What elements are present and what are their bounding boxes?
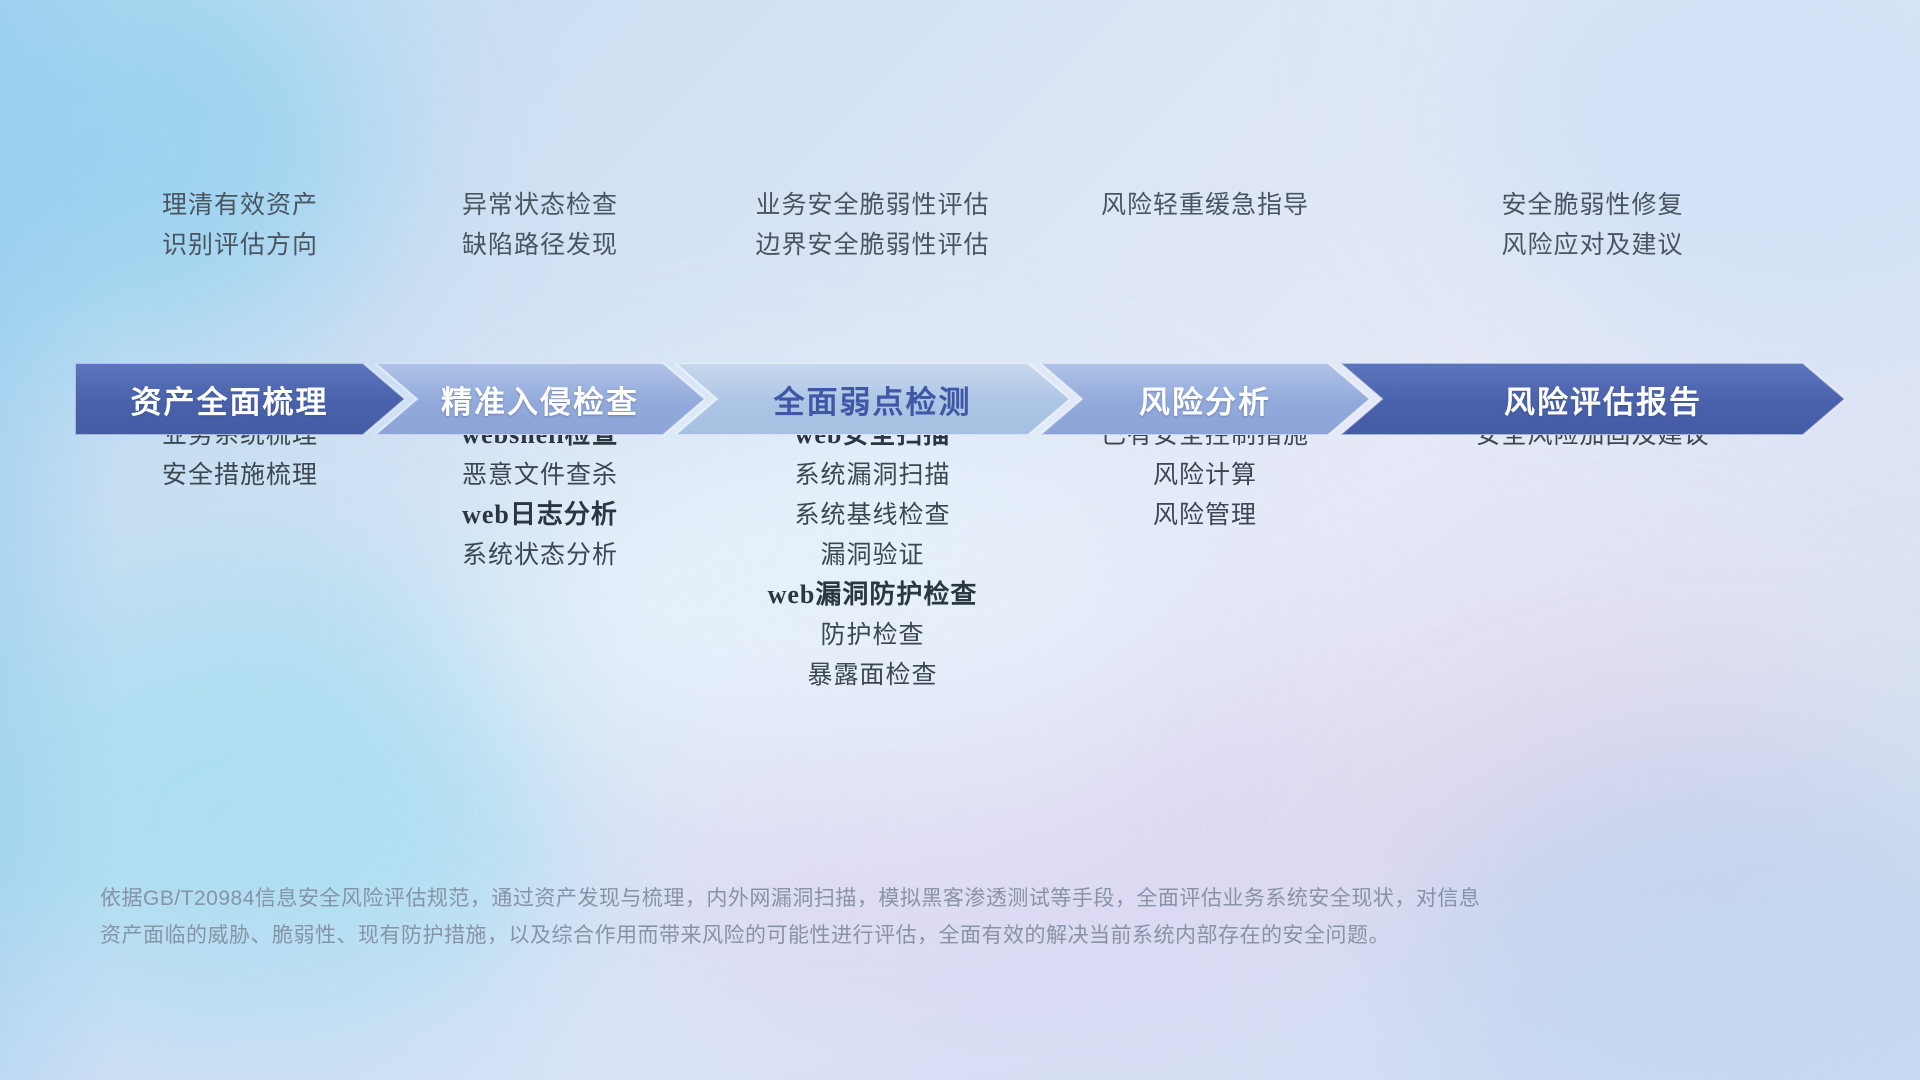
stage-title-1: 资产全面梳理 xyxy=(131,377,329,422)
stage-detail-list-2: webshell检查恶意文件查杀web日志分析系统状态分析 xyxy=(375,415,705,575)
stage-top-label: 识别评估方向 xyxy=(75,225,405,265)
stage-top-labels-row: 理清有效资产识别评估方向异常状态检查缺陷路径发现业务安全脆弱性评估边界安全脆弱性… xyxy=(0,185,1920,285)
stage-top-labels-1: 理清有效资产识别评估方向 xyxy=(75,185,405,265)
stage-chevron-3[interactable]: 全面弱点检测 xyxy=(675,363,1070,435)
process-diagram: 理清有效资产识别评估方向异常状态检查缺陷路径发现业务安全脆弱性评估边界安全脆弱性… xyxy=(0,0,1920,1080)
footer-line-2: 资产面临的威胁、脆弱性、现有防护措施，以及综合作用而带来风险的可能性进行评估，全… xyxy=(100,917,1760,954)
stage-title-3: 全面弱点检测 xyxy=(774,377,972,422)
stage-detail-item[interactable]: 漏洞验证 xyxy=(675,535,1070,575)
stage-top-label: 风险应对及建议 xyxy=(1340,225,1845,265)
stage-top-label: 理清有效资产 xyxy=(75,185,405,225)
footer-description: 依据GB/T20984信息安全风险评估规范，通过资产发现与梳理，内外网漏洞扫描，… xyxy=(100,880,1760,954)
stage-title-2: 精准入侵检查 xyxy=(441,377,639,422)
stage-top-labels-5: 安全脆弱性修复风险应对及建议 xyxy=(1340,185,1845,265)
stage-chevron-5[interactable]: 风险评估报告 xyxy=(1340,363,1845,435)
stage-detail-item[interactable]: 安全措施梳理 xyxy=(75,455,405,495)
stage-detail-item[interactable]: 系统漏洞扫描 xyxy=(675,455,1070,495)
stage-detail-item[interactable]: 系统基线检查 xyxy=(675,495,1070,535)
stage-top-label: 缺陷路径发现 xyxy=(375,225,705,265)
stage-top-label: 风险轻重缓急指导 xyxy=(1040,185,1370,225)
stage-detail-item[interactable]: 风险管理 xyxy=(1040,495,1370,535)
stage-top-labels-4: 风险轻重缓急指导 xyxy=(1040,185,1370,225)
stage-top-label: 安全脆弱性修复 xyxy=(1340,185,1845,225)
stage-detail-lists-row: 业务系统梳理安全措施梳理webshell检查恶意文件查杀web日志分析系统状态分… xyxy=(0,415,1920,705)
footer-line-1: 依据GB/T20984信息安全风险评估规范，通过资产发现与梳理，内外网漏洞扫描，… xyxy=(100,880,1760,917)
stage-top-label: 边界安全脆弱性评估 xyxy=(675,225,1070,265)
stage-chevron-2[interactable]: 精准入侵检查 xyxy=(375,363,705,435)
stage-top-label: 业务安全脆弱性评估 xyxy=(675,185,1070,225)
stage-detail-item[interactable]: web漏洞防护检查 xyxy=(675,575,1070,615)
stage-detail-item[interactable]: 风险计算 xyxy=(1040,455,1370,495)
stage-chevron-band: 资产全面梳理精准入侵检查全面弱点检测风险分析风险评估报告 xyxy=(75,363,1845,435)
stage-detail-item[interactable]: 系统状态分析 xyxy=(375,535,705,575)
stage-top-labels-2: 异常状态检查缺陷路径发现 xyxy=(375,185,705,265)
stage-detail-item[interactable]: 防护检查 xyxy=(675,615,1070,655)
stage-detail-item[interactable]: 恶意文件查杀 xyxy=(375,455,705,495)
stage-detail-item[interactable]: 暴露面检查 xyxy=(675,655,1070,695)
stage-chevron-1[interactable]: 资产全面梳理 xyxy=(75,363,405,435)
stage-chevron-4[interactable]: 风险分析 xyxy=(1040,363,1370,435)
stage-title-4: 风险分析 xyxy=(1139,377,1271,422)
stage-detail-item[interactable]: web日志分析 xyxy=(375,495,705,535)
stage-detail-list-3: web安全扫描系统漏洞扫描系统基线检查漏洞验证web漏洞防护检查防护检查暴露面检… xyxy=(675,415,1070,695)
stage-top-label: 异常状态检查 xyxy=(375,185,705,225)
stage-title-5: 风险评估报告 xyxy=(1504,377,1702,422)
stage-top-labels-3: 业务安全脆弱性评估边界安全脆弱性评估 xyxy=(675,185,1070,265)
